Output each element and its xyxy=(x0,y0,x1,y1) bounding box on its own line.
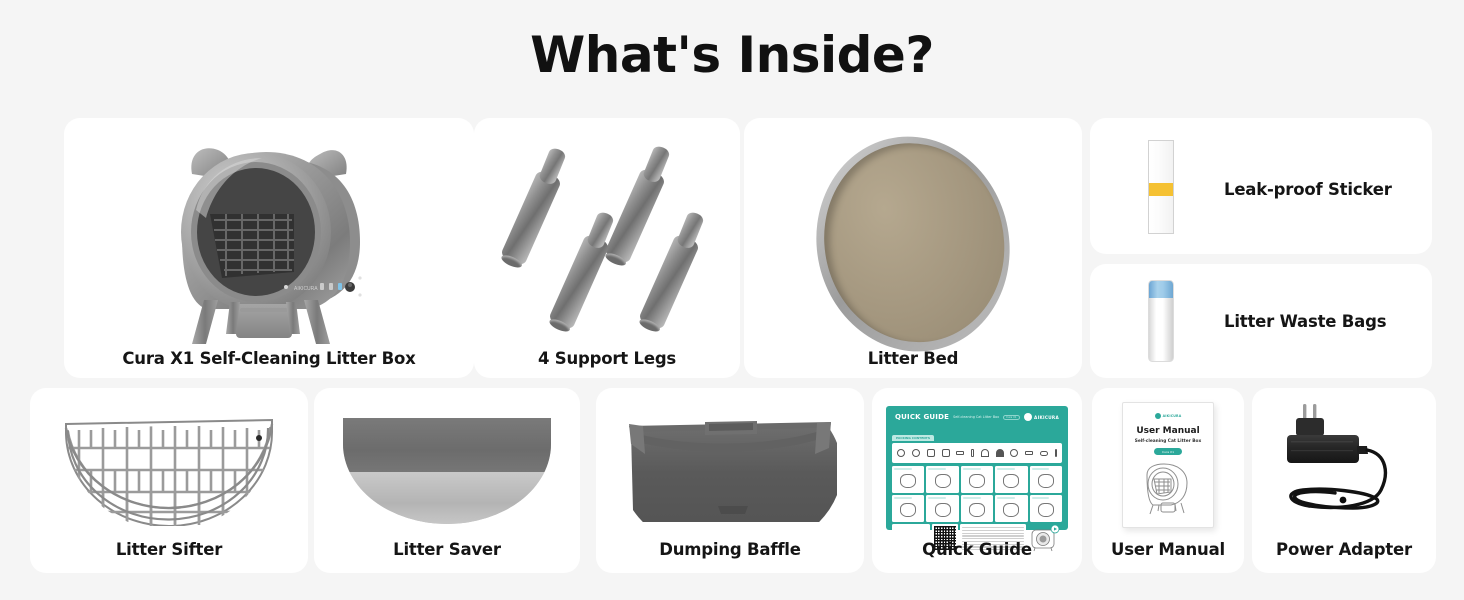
card-label: Litter Saver xyxy=(314,540,580,559)
product-card-support-legs[interactable]: 4 Support Legs xyxy=(474,118,740,378)
product-card-litter-waste-bags[interactable]: Litter Waste Bags xyxy=(1090,264,1432,378)
parts-section-tag: PACKING CONTENTS xyxy=(892,435,934,441)
brand-name: AIKICURA xyxy=(1034,415,1059,420)
product-card-quick-guide[interactable]: QUICK GUIDE Self-cleaning Cat Litter Box… xyxy=(872,388,1082,573)
card-label: Quick Guide xyxy=(872,540,1082,559)
brand-name: AIKICURA xyxy=(1163,414,1182,418)
card-label: Dumping Baffle xyxy=(596,540,864,559)
product-card-user-manual[interactable]: AIKICURA User Manual Self-cleaning Cat L… xyxy=(1092,388,1244,573)
brand-logo: AIKICURA xyxy=(1024,413,1059,421)
card-label: Litter Bed xyxy=(744,349,1082,368)
card-label: Litter Sifter xyxy=(30,540,308,559)
quick-guide-icon: QUICK GUIDE Self-cleaning Cat Litter Box… xyxy=(886,406,1068,530)
page-title: What's Inside? xyxy=(0,26,1464,84)
svg-text:AIKICURA: AIKICURA xyxy=(294,286,318,292)
card-label: Leak-proof Sticker xyxy=(1224,180,1392,199)
manual-product-drawing xyxy=(1137,461,1199,517)
product-card-litter-bed[interactable]: Litter Bed xyxy=(744,118,1082,378)
card-label: Cura X1 Self-Cleaning Litter Box xyxy=(64,349,474,368)
manual-model-badge: Cura X1 xyxy=(1154,448,1182,455)
quick-guide-subtitle: Self-cleaning Cat Litter Box xyxy=(953,415,999,419)
support-legs-icon xyxy=(474,118,740,333)
card-label: 4 Support Legs xyxy=(474,349,740,368)
manual-subtitle: Self-cleaning Cat Litter Box xyxy=(1123,439,1213,444)
dumping-baffle-icon xyxy=(623,414,837,522)
product-card-litter-box[interactable]: AIKICURA xyxy=(64,118,474,378)
card-label: User Manual xyxy=(1092,540,1244,559)
quick-guide-title: QUICK GUIDE xyxy=(895,413,949,421)
card-label: Power Adapter xyxy=(1252,540,1436,559)
user-manual-icon: AIKICURA User Manual Self-cleaning Cat L… xyxy=(1122,402,1214,528)
instruction-grid xyxy=(892,466,1062,522)
parts-row xyxy=(892,443,1062,463)
power-adapter-icon xyxy=(1269,402,1419,526)
quick-guide-model-badge: Cura X1 xyxy=(1003,415,1019,420)
product-card-litter-saver[interactable]: Litter Saver xyxy=(314,388,580,573)
product-card-dumping-baffle[interactable]: Dumping Baffle xyxy=(596,388,864,573)
brand-logo: AIKICURA xyxy=(1123,413,1213,419)
product-card-power-adapter[interactable]: Power Adapter xyxy=(1252,388,1436,573)
product-card-leak-proof-sticker[interactable]: Leak-proof Sticker xyxy=(1090,118,1432,254)
litter-box-icon: AIKICURA xyxy=(144,132,394,347)
manual-title: User Manual xyxy=(1123,426,1213,436)
card-label: Litter Waste Bags xyxy=(1224,312,1386,331)
litter-sifter-icon xyxy=(63,414,275,526)
product-card-litter-sifter[interactable]: Litter Sifter xyxy=(30,388,308,573)
whats-inside-infographic: What's Inside? xyxy=(0,0,1464,600)
